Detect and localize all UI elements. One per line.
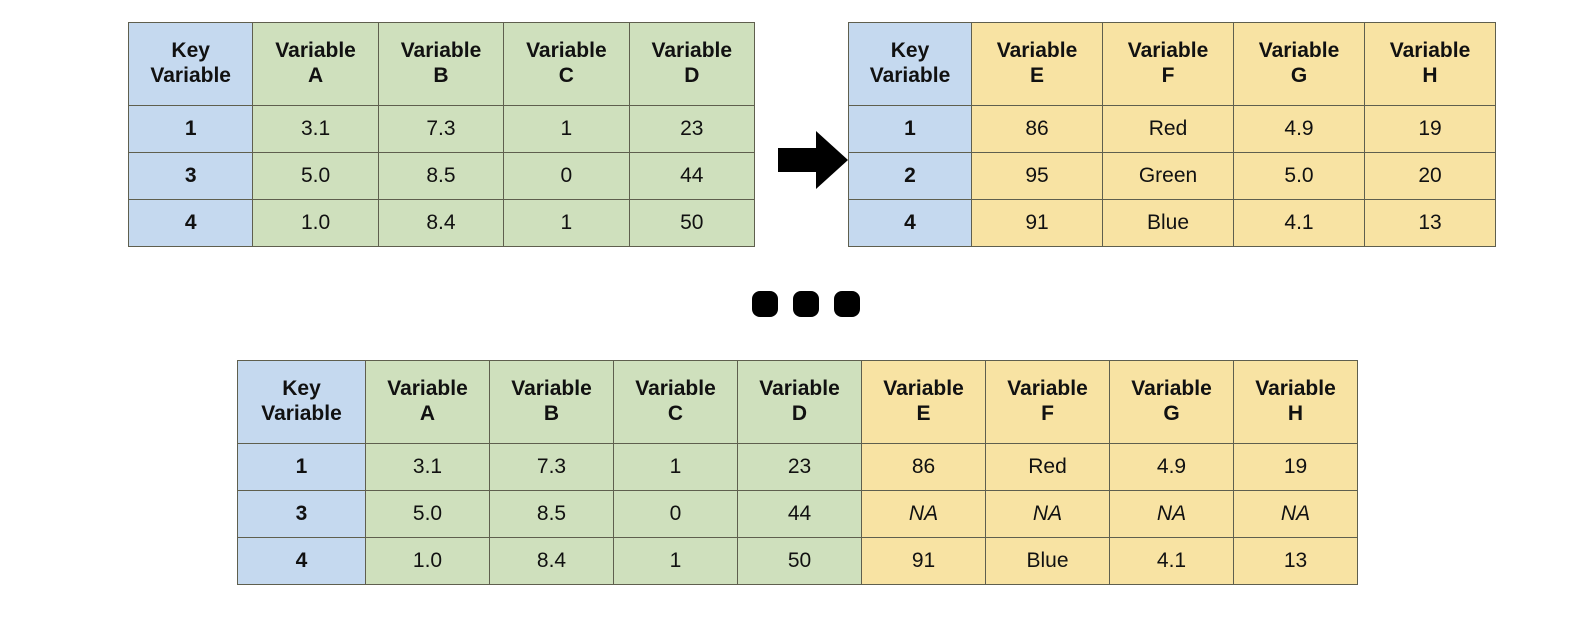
column-header-key-variable: Key Variable <box>238 361 366 444</box>
header-line-1: Variable <box>997 39 1078 62</box>
header-line-2: C <box>668 402 683 425</box>
left-source-table: Key Variable Variable A Variable B Varia… <box>128 22 755 247</box>
header-line-1: Variable <box>652 39 733 62</box>
header-line-2: B <box>433 64 448 87</box>
cell-variable-c: 1 <box>614 444 738 491</box>
cell-variable-d: 23 <box>738 444 862 491</box>
table-row: 1 3.1 7.3 1 23 <box>129 106 755 153</box>
column-header-variable-e: Variable E <box>862 361 986 444</box>
cell-variable-d: 44 <box>738 491 862 538</box>
header-line-2: B <box>544 402 559 425</box>
ellipsis-dots-icon <box>752 290 860 318</box>
table-row: 4 1.0 8.4 1 50 <box>129 200 755 247</box>
column-header-variable-e: Variable E <box>972 23 1103 106</box>
header-line-2: E <box>1030 64 1044 87</box>
column-header-variable-h: Variable H <box>1365 23 1496 106</box>
column-header-variable-g: Variable G <box>1234 23 1365 106</box>
cell-variable-f-na: NA <box>986 491 1110 538</box>
column-header-key-variable: Key Variable <box>849 23 972 106</box>
cell-variable-a: 5.0 <box>253 153 378 200</box>
cell-variable-f: Red <box>986 444 1110 491</box>
header-line-1: Variable <box>1128 39 1209 62</box>
right-arrow-icon <box>778 131 848 189</box>
table-row: 1 3.1 7.3 1 23 86 Red 4.9 19 <box>238 444 1358 491</box>
cell-variable-e: 91 <box>972 200 1103 247</box>
header-line-1: Variable <box>759 377 840 400</box>
column-header-variable-h: Variable H <box>1234 361 1358 444</box>
header-line-2: D <box>792 402 807 425</box>
header-line-2: E <box>916 402 930 425</box>
cell-variable-b: 7.3 <box>378 106 503 153</box>
dot-2 <box>793 291 819 317</box>
table-header-row: Key Variable Variable A Variable B Varia… <box>129 23 755 106</box>
column-header-variable-a: Variable A <box>253 23 378 106</box>
cell-variable-f: Green <box>1103 153 1234 200</box>
cell-variable-c: 0 <box>504 153 629 200</box>
table-row: 4 91 Blue 4.1 13 <box>849 200 1496 247</box>
header-line-2: H <box>1422 64 1437 87</box>
dot-3 <box>834 291 860 317</box>
cell-variable-b: 8.5 <box>490 491 614 538</box>
cell-variable-f: Blue <box>986 538 1110 585</box>
cell-variable-g: 4.1 <box>1110 538 1234 585</box>
cell-variable-g: 4.1 <box>1234 200 1365 247</box>
header-line-2: G <box>1163 402 1179 425</box>
header-line-1: Key <box>171 39 210 62</box>
cell-variable-a: 1.0 <box>253 200 378 247</box>
cell-variable-g: 4.9 <box>1234 106 1365 153</box>
table-row: 1 86 Red 4.9 19 <box>849 106 1496 153</box>
cell-key: 1 <box>238 444 366 491</box>
cell-variable-h: 13 <box>1365 200 1496 247</box>
header-line-1: Variable <box>883 377 964 400</box>
cell-variable-d: 50 <box>629 200 754 247</box>
cell-key: 1 <box>849 106 972 153</box>
header-line-1: Variable <box>526 39 607 62</box>
header-line-1: Variable <box>1007 377 1088 400</box>
header-line-1: Variable <box>635 377 716 400</box>
cell-variable-g: 4.9 <box>1110 444 1234 491</box>
cell-variable-e: 91 <box>862 538 986 585</box>
table-row: 3 5.0 8.5 0 44 <box>129 153 755 200</box>
cell-variable-h-na: NA <box>1234 491 1358 538</box>
header-line-1: Key <box>891 39 930 62</box>
table-row: 2 95 Green 5.0 20 <box>849 153 1496 200</box>
cell-variable-e-na: NA <box>862 491 986 538</box>
column-header-variable-a: Variable A <box>366 361 490 444</box>
table-header-row: Key Variable Variable E Variable F Varia… <box>849 23 1496 106</box>
header-line-2: D <box>684 64 699 87</box>
cell-key: 4 <box>129 200 253 247</box>
header-line-1: Variable <box>387 377 468 400</box>
cell-variable-g-na: NA <box>1110 491 1234 538</box>
header-line-1: Variable <box>1255 377 1336 400</box>
cell-key: 3 <box>129 153 253 200</box>
table-header-row: Key Variable Variable A Variable B Varia… <box>238 361 1358 444</box>
cell-key: 4 <box>849 200 972 247</box>
header-line-2: H <box>1288 402 1303 425</box>
header-line-1: Variable <box>1259 39 1340 62</box>
cell-variable-h: 19 <box>1234 444 1358 491</box>
header-line-2: Variable <box>261 402 342 425</box>
header-line-1: Variable <box>275 39 356 62</box>
header-line-2: C <box>559 64 574 87</box>
column-header-variable-b: Variable B <box>490 361 614 444</box>
cell-variable-b: 8.5 <box>378 153 503 200</box>
cell-variable-h: 19 <box>1365 106 1496 153</box>
cell-variable-a: 5.0 <box>366 491 490 538</box>
cell-variable-d: 44 <box>629 153 754 200</box>
cell-variable-h: 13 <box>1234 538 1358 585</box>
cell-variable-e: 95 <box>972 153 1103 200</box>
column-header-variable-f: Variable F <box>986 361 1110 444</box>
cell-variable-b: 8.4 <box>378 200 503 247</box>
header-line-2: A <box>308 64 323 87</box>
column-header-variable-b: Variable B <box>378 23 503 106</box>
cell-variable-e: 86 <box>862 444 986 491</box>
column-header-variable-c: Variable C <box>614 361 738 444</box>
cell-key: 3 <box>238 491 366 538</box>
cell-variable-c: 0 <box>614 491 738 538</box>
cell-variable-a: 1.0 <box>366 538 490 585</box>
header-line-1: Variable <box>1390 39 1471 62</box>
cell-variable-b: 8.4 <box>490 538 614 585</box>
cell-variable-c: 1 <box>614 538 738 585</box>
cell-variable-e: 86 <box>972 106 1103 153</box>
cell-variable-a: 3.1 <box>253 106 378 153</box>
header-line-2: Variable <box>150 64 231 87</box>
table-row: 3 5.0 8.5 0 44 NA NA NA NA <box>238 491 1358 538</box>
cell-variable-a: 3.1 <box>366 444 490 491</box>
cell-key: 1 <box>129 106 253 153</box>
column-header-variable-d: Variable D <box>738 361 862 444</box>
column-header-variable-d: Variable D <box>629 23 754 106</box>
header-line-2: G <box>1291 64 1307 87</box>
cell-key: 4 <box>238 538 366 585</box>
cell-variable-c: 1 <box>504 106 629 153</box>
header-line-2: Variable <box>870 64 951 87</box>
cell-variable-g: 5.0 <box>1234 153 1365 200</box>
cell-variable-f: Blue <box>1103 200 1234 247</box>
column-header-variable-c: Variable C <box>504 23 629 106</box>
cell-variable-b: 7.3 <box>490 444 614 491</box>
header-line-2: A <box>420 402 435 425</box>
cell-variable-f: Red <box>1103 106 1234 153</box>
column-header-key-variable: Key Variable <box>129 23 253 106</box>
cell-variable-d: 23 <box>629 106 754 153</box>
cell-variable-c: 1 <box>504 200 629 247</box>
merged-result-table: Key Variable Variable A Variable B Varia… <box>237 360 1358 585</box>
column-header-variable-f: Variable F <box>1103 23 1234 106</box>
cell-key: 2 <box>849 153 972 200</box>
cell-variable-h: 20 <box>1365 153 1496 200</box>
header-line-2: F <box>1041 402 1054 425</box>
header-line-1: Key <box>282 377 321 400</box>
table-row: 4 1.0 8.4 1 50 91 Blue 4.1 13 <box>238 538 1358 585</box>
dot-1 <box>752 291 778 317</box>
header-line-1: Variable <box>511 377 592 400</box>
header-line-2: F <box>1162 64 1175 87</box>
right-source-table: Key Variable Variable E Variable F Varia… <box>848 22 1496 247</box>
header-line-1: Variable <box>401 39 482 62</box>
header-line-1: Variable <box>1131 377 1212 400</box>
table-join-diagram: Key Variable Variable A Variable B Varia… <box>0 0 1594 630</box>
column-header-variable-g: Variable G <box>1110 361 1234 444</box>
cell-variable-d: 50 <box>738 538 862 585</box>
